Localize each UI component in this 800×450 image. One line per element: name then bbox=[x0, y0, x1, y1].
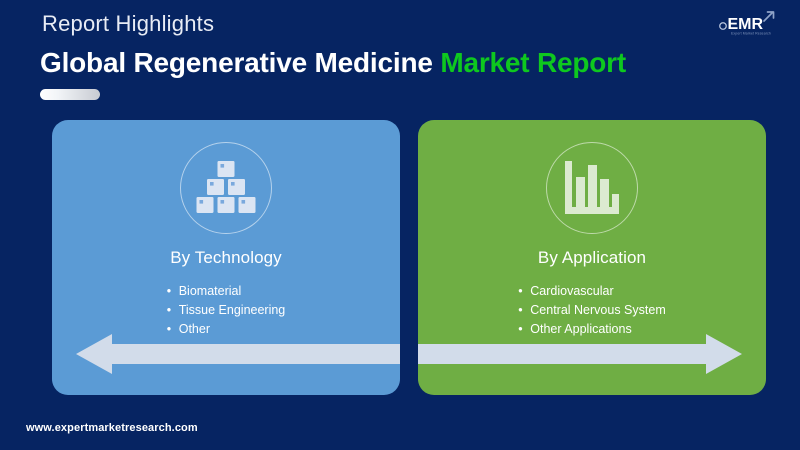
card-bullets-by-application: Cardiovascular Central Nervous System Ot… bbox=[418, 282, 766, 339]
bar-chart-icon bbox=[563, 160, 621, 216]
icon-circle bbox=[180, 142, 272, 234]
list-item: Central Nervous System bbox=[518, 301, 665, 320]
emr-logo[interactable]: EMR Expert Market Research bbox=[716, 8, 784, 38]
upward-arrow-icon bbox=[764, 12, 774, 21]
card-by-application[interactable]: By Application Cardiovascular Central Ne… bbox=[418, 120, 766, 395]
card-icon-wrap bbox=[52, 142, 400, 234]
svg-text:EMR: EMR bbox=[728, 16, 764, 33]
card-by-technology[interactable]: By Technology Biomaterial Tissue Enginee… bbox=[52, 120, 400, 395]
icon-circle bbox=[546, 142, 638, 234]
svg-text:Expert Market Research: Expert Market Research bbox=[731, 32, 771, 36]
footer-website[interactable]: www.expertmarketresearch.com bbox=[26, 422, 198, 434]
eyebrow-label: Report Highlights bbox=[42, 10, 214, 39]
card-icon-wrap bbox=[418, 142, 766, 234]
page-title-accent: Market Report bbox=[440, 47, 626, 78]
page-header: Report Highlights Global Regenerative Me… bbox=[0, 0, 800, 110]
list-item: Tissue Engineering bbox=[167, 301, 286, 320]
list-item: Other bbox=[167, 320, 286, 339]
title-underline-pill bbox=[40, 89, 100, 100]
page-title: Global Regenerative Medicine Market Repo… bbox=[40, 45, 626, 80]
card-title-by-technology: By Technology bbox=[52, 248, 400, 268]
stacked-boxes-icon bbox=[195, 160, 257, 216]
list-item: Other Applications bbox=[518, 320, 665, 339]
bullet-list: Cardiovascular Central Nervous System Ot… bbox=[518, 282, 665, 339]
card-bullets-by-technology: Biomaterial Tissue Engineering Other bbox=[52, 282, 400, 339]
bullet-list: Biomaterial Tissue Engineering Other bbox=[167, 282, 286, 339]
card-title-by-application: By Application bbox=[418, 248, 766, 268]
page-title-main: Global Regenerative Medicine bbox=[40, 47, 440, 78]
list-item: Biomaterial bbox=[167, 282, 286, 301]
list-item: Cardiovascular bbox=[518, 282, 665, 301]
